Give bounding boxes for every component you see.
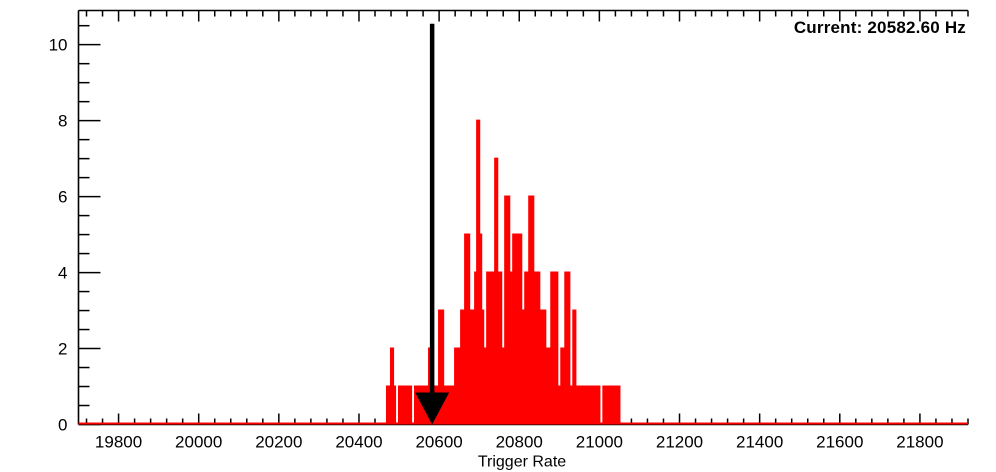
y-tick-label: 2 bbox=[58, 340, 67, 359]
histogram-series bbox=[79, 121, 969, 425]
trigger-rate-histogram: 1980020000202002040020600208002100021200… bbox=[0, 0, 996, 472]
x-tick-label: 21400 bbox=[736, 433, 783, 452]
y-tick-label: 4 bbox=[58, 264, 67, 283]
x-tick-label: 20800 bbox=[496, 433, 543, 452]
x-tick-label: 20000 bbox=[175, 433, 222, 452]
y-tick-label: 0 bbox=[58, 416, 67, 435]
current-rate-readout: Current: 20582.60 Hz bbox=[794, 18, 966, 38]
x-tick-label: 20600 bbox=[415, 433, 462, 452]
y-tick-label: 6 bbox=[58, 188, 67, 207]
y-tick-label: 10 bbox=[49, 36, 68, 55]
x-tick-label: 21000 bbox=[576, 433, 623, 452]
x-axis-title: Trigger Rate bbox=[478, 454, 566, 471]
x-tick-label: 19800 bbox=[95, 433, 142, 452]
x-tick-label: 20200 bbox=[255, 433, 302, 452]
x-tick-label: 21800 bbox=[896, 433, 943, 452]
x-tick-label: 20400 bbox=[335, 433, 382, 452]
histogram-panel: 1980020000202002040020600208002100021200… bbox=[0, 0, 996, 472]
x-tick-label: 21600 bbox=[816, 433, 863, 452]
x-axis-title: Trigger Rate bbox=[478, 454, 566, 471]
y-tick-label: 8 bbox=[58, 112, 67, 131]
x-tick-label: 21200 bbox=[656, 433, 703, 452]
